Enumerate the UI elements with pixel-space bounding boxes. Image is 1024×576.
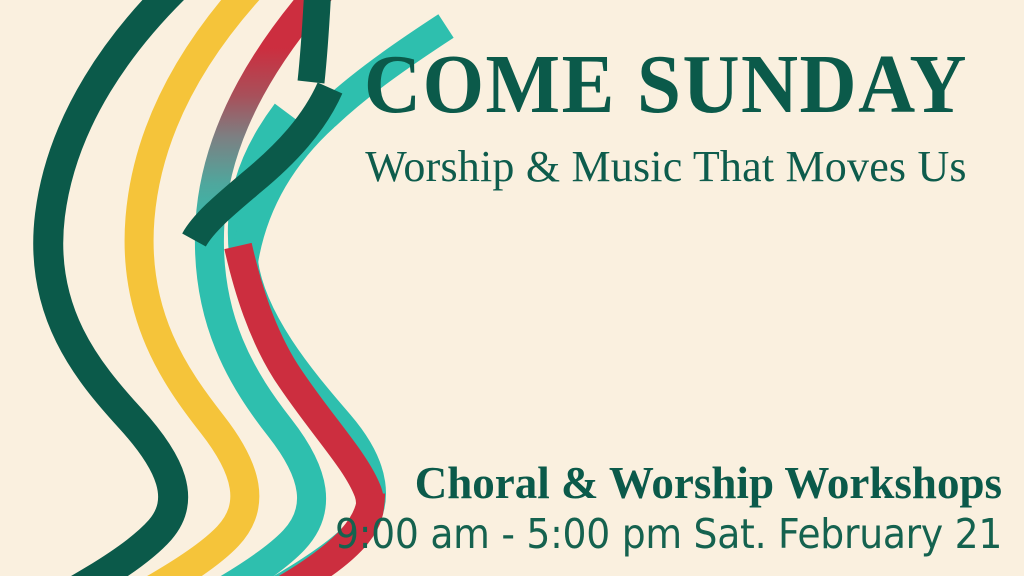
- page-title: COME SUNDAY: [330, 44, 1002, 126]
- headline-block: COME SUNDAY Worship & Music That Moves U…: [330, 44, 1002, 192]
- poster-canvas: COME SUNDAY Worship & Music That Moves U…: [0, 0, 1024, 576]
- event-datetime: 9:00 am - 5:00 pm Sat. February 21: [335, 506, 1002, 558]
- page-subtitle: Worship & Music That Moves Us: [330, 121, 1002, 191]
- poster-text-layer: COME SUNDAY Worship & Music That Moves U…: [0, 0, 1024, 576]
- event-name: Choral & Worship Workshops: [277, 461, 1002, 506]
- event-details-block: Choral & Worship Workshops 9:00 am - 5:0…: [277, 461, 1002, 558]
